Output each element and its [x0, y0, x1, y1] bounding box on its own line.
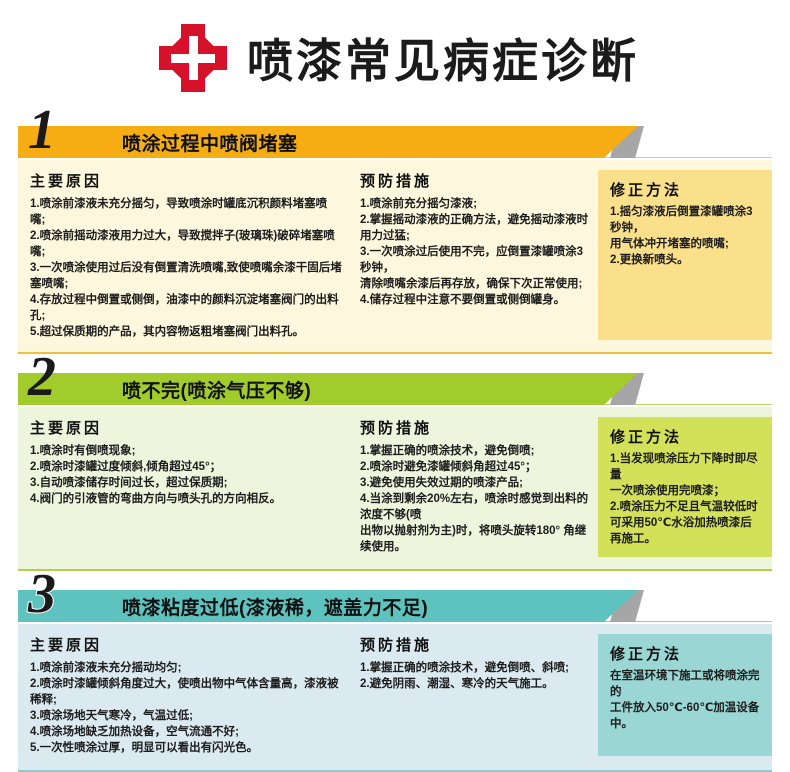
fix-heading: 修正方法 — [610, 643, 762, 664]
list-item: 5.一次性喷涂过厚，明显可以看出有闪光色。 — [30, 740, 342, 756]
section-3-title: 喷漆粘度过低(漆液稀，遮盖力不足) — [122, 593, 428, 620]
section-2-fix-box: 修正方法 1.当发现喷涂压力下降时即尽量 一次喷涂使用完喷漆； 2.喷涂压力不足… — [598, 417, 772, 557]
section-3-banner: 喷漆粘度过低(漆液稀，遮盖力不足) 3 — [18, 580, 772, 624]
list-item: 1.当发现喷涂压力下降时即尽量 一次喷涂使用完喷漆； — [610, 451, 762, 499]
list-item: 4.喷涂场地缺乏加热设备，空气流通不好; — [30, 724, 342, 740]
section-3-causes-list: 1.喷涂前漆液未充分摇动均匀; 2.喷涂时漆罐倾斜角度过大，使喷出物中气体含量高… — [30, 660, 342, 756]
list-item: 5.超过保质期的产品，其内容物返粗堵塞阀门出料孔。 — [30, 324, 342, 340]
section-2: 喷不完(喷涂气压不够) 2 主要原因 1.喷涂时有倒喷现象; 2.喷涂时漆罐过度… — [18, 363, 772, 571]
list-item: 2.喷涂时漆罐倾斜角度过大，使喷出物中气体含量高，漆液被稀释; — [30, 676, 342, 708]
section-2-panel: 主要原因 1.喷涂时有倒喷现象; 2.喷涂时漆罐过度倾斜,倾角超过45°； 3.… — [18, 407, 772, 571]
section-1-fix-list: 1.摇匀漆液后倒置漆罐喷涂3秒钟， 用气体冲开堵塞的喷嘴; 2.更换新喷头。 — [610, 204, 762, 268]
list-item: 4.阀门的引液管的弯曲方向与喷头孔的方向相反。 — [30, 491, 342, 507]
list-item: 3.喷涂场地天气寒冷，气温过低; — [30, 708, 342, 724]
section-3-fix-text: 在室温环境下施工或将喷涂完的 工件放入50℃-60℃加温设备中。 — [610, 668, 762, 732]
list-item: 3.一次喷涂使用过后没有倒置清洗喷嘴,致使喷嘴余漆干固后堵塞喷嘴; — [30, 260, 342, 292]
section-2-causes-column: 主要原因 1.喷涂时有倒喷现象; 2.喷涂时漆罐过度倾斜,倾角超过45°； 3.… — [18, 417, 348, 557]
prevention-heading: 预防措施 — [360, 634, 592, 655]
list-item: 3.自动喷漆储存时间过长，超过保质期; — [30, 475, 342, 491]
causes-heading: 主要原因 — [30, 170, 342, 191]
section-1-number: 1 — [28, 102, 56, 158]
fix-heading: 修正方法 — [610, 179, 762, 200]
section-1: 喷涂过程中喷阀堵塞 1 主要原因 1.喷涂前漆液未充分摇匀，导致喷涂时罐底沉积颜… — [18, 116, 772, 354]
list-item: 3.避免使用失效过期的喷漆产品; — [360, 475, 592, 491]
page-title: 喷漆常见病症诊断 — [247, 25, 639, 91]
list-item: 2.掌握摇动漆液的正确方法，避免摇动漆液时用力过猛; — [360, 212, 592, 244]
list-item: 2.喷涂前摇动漆液用力过大，导致搅拌子(玻璃珠)破碎堵塞喷嘴; — [30, 228, 342, 260]
section-1-causes-list: 1.喷涂前漆液未充分摇匀，导致喷涂时罐底沉积颜料堵塞喷嘴; 2.喷涂前摇动漆液用… — [30, 196, 342, 340]
prevention-heading: 预防措施 — [360, 417, 592, 438]
list-item: 3.一次喷涂过后使用不完，应倒置漆罐喷涂3秒钟， 清除喷嘴余漆后再存放，确保下次… — [360, 244, 592, 292]
section-3: 喷漆粘度过低(漆液稀，遮盖力不足) 3 主要原因 1.喷涂前漆液未充分摇动均匀;… — [18, 580, 772, 772]
section-1-panel: 主要原因 1.喷涂前漆液未充分摇匀，导致喷涂时罐底沉积颜料堵塞喷嘴; 2.喷涂前… — [18, 160, 772, 354]
prevention-heading: 预防措施 — [360, 170, 592, 191]
section-1-prevention-column: 预防措施 1.喷涂前充分摇匀漆液; 2.掌握摇动漆液的正确方法，避免摇动漆液时用… — [348, 170, 598, 340]
section-2-prevention-column: 预防措施 1.掌握正确的喷涂技术，避免倒喷; 2.喷涂时避免漆罐倾斜角超过45°… — [348, 417, 598, 557]
list-item: 2.喷涂时漆罐过度倾斜,倾角超过45°； — [30, 459, 342, 475]
section-1-fix-column: 修正方法 1.摇匀漆液后倒置漆罐喷涂3秒钟， 用气体冲开堵塞的喷嘴; 2.更换新… — [598, 170, 772, 340]
list-item: 2.喷涂压力不足且气温较低时 可采用50℃水浴加热喷漆后 再施工。 — [610, 499, 762, 547]
section-2-number: 2 — [28, 349, 56, 405]
list-item: 4.存放过程中倒置或侧倒，油漆中的颜料沉淀堵塞阀门的出料孔; — [30, 292, 342, 324]
section-1-banner: 喷涂过程中喷阀堵塞 1 — [18, 116, 772, 160]
section-3-number: 3 — [28, 566, 56, 622]
list-item: 4.当涂到剩余20%左右，喷涂时感觉到出料的浓度不够(喷 出物以抛射剂为主)时，… — [360, 491, 592, 555]
causes-heading: 主要原因 — [30, 634, 342, 655]
section-3-fix-box: 修正方法 在室温环境下施工或将喷涂完的 工件放入50℃-60℃加温设备中。 — [598, 634, 772, 756]
section-3-causes-column: 主要原因 1.喷涂前漆液未充分摇动均匀; 2.喷涂时漆罐倾斜角度过大，使喷出物中… — [18, 634, 348, 756]
section-1-prevention-list: 1.喷涂前充分摇匀漆液; 2.掌握摇动漆液的正确方法，避免摇动漆液时用力过猛; … — [360, 196, 592, 308]
section-2-prevention-list: 1.掌握正确的喷涂技术，避免倒喷; 2.喷涂时避免漆罐倾斜角超过45°； 3.避… — [360, 443, 592, 555]
list-item: 1.喷涂前充分摇匀漆液; — [360, 196, 592, 212]
list-item: 1.喷涂时有倒喷现象; — [30, 443, 342, 459]
list-item: 1.掌握正确的喷涂技术，避免倒喷; — [360, 443, 592, 459]
list-item: 1.摇匀漆液后倒置漆罐喷涂3秒钟， 用气体冲开堵塞的喷嘴; — [610, 204, 762, 252]
fix-heading: 修正方法 — [610, 426, 762, 447]
section-3-fix-column: 修正方法 在室温环境下施工或将喷涂完的 工件放入50℃-60℃加温设备中。 — [598, 634, 772, 756]
section-2-causes-list: 1.喷涂时有倒喷现象; 2.喷涂时漆罐过度倾斜,倾角超过45°； 3.自动喷漆储… — [30, 443, 342, 507]
list-item: 4.储存过程中注意不要倒置或侧倒罐身。 — [360, 292, 592, 308]
section-2-title: 喷不完(喷涂气压不够) — [122, 376, 311, 403]
section-1-causes-column: 主要原因 1.喷涂前漆液未充分摇匀，导致喷涂时罐底沉积颜料堵塞喷嘴; 2.喷涂前… — [18, 170, 348, 340]
section-2-banner: 喷不完(喷涂气压不够) 2 — [18, 363, 772, 407]
section-3-panel: 主要原因 1.喷涂前漆液未充分摇动均匀; 2.喷涂时漆罐倾斜角度过大，使喷出物中… — [18, 624, 772, 772]
list-item: 1.喷涂前漆液未充分摇匀，导致喷涂时罐底沉积颜料堵塞喷嘴; — [30, 196, 342, 228]
section-1-fix-box: 修正方法 1.摇匀漆液后倒置漆罐喷涂3秒钟， 用气体冲开堵塞的喷嘴; 2.更换新… — [598, 170, 772, 340]
list-item: 1.掌握正确的喷涂技术，避免倒喷、斜喷; — [360, 660, 592, 676]
page-header: 喷漆常见病症诊断 — [0, 0, 790, 116]
section-3-prevention-list: 1.掌握正确的喷涂技术，避免倒喷、斜喷; 2.避免阴雨、潮湿、寒冷的天气施工。 — [360, 660, 592, 692]
list-item: 2.喷涂时避免漆罐倾斜角超过45°； — [360, 459, 592, 475]
list-item: 1.喷涂前漆液未充分摇动均匀; — [30, 660, 342, 676]
section-3-prevention-column: 预防措施 1.掌握正确的喷涂技术，避免倒喷、斜喷; 2.避免阴雨、潮湿、寒冷的天… — [348, 634, 598, 756]
causes-heading: 主要原因 — [30, 417, 342, 438]
list-item: 2.更换新喷头。 — [610, 252, 762, 268]
red-cross-icon — [157, 22, 229, 94]
section-2-fix-column: 修正方法 1.当发现喷涂压力下降时即尽量 一次喷涂使用完喷漆； 2.喷涂压力不足… — [598, 417, 772, 557]
section-1-title: 喷涂过程中喷阀堵塞 — [122, 129, 298, 156]
list-item: 2.避免阴雨、潮湿、寒冷的天气施工。 — [360, 676, 592, 692]
section-2-fix-list: 1.当发现喷涂压力下降时即尽量 一次喷涂使用完喷漆； 2.喷涂压力不足且气温较低… — [610, 451, 762, 547]
